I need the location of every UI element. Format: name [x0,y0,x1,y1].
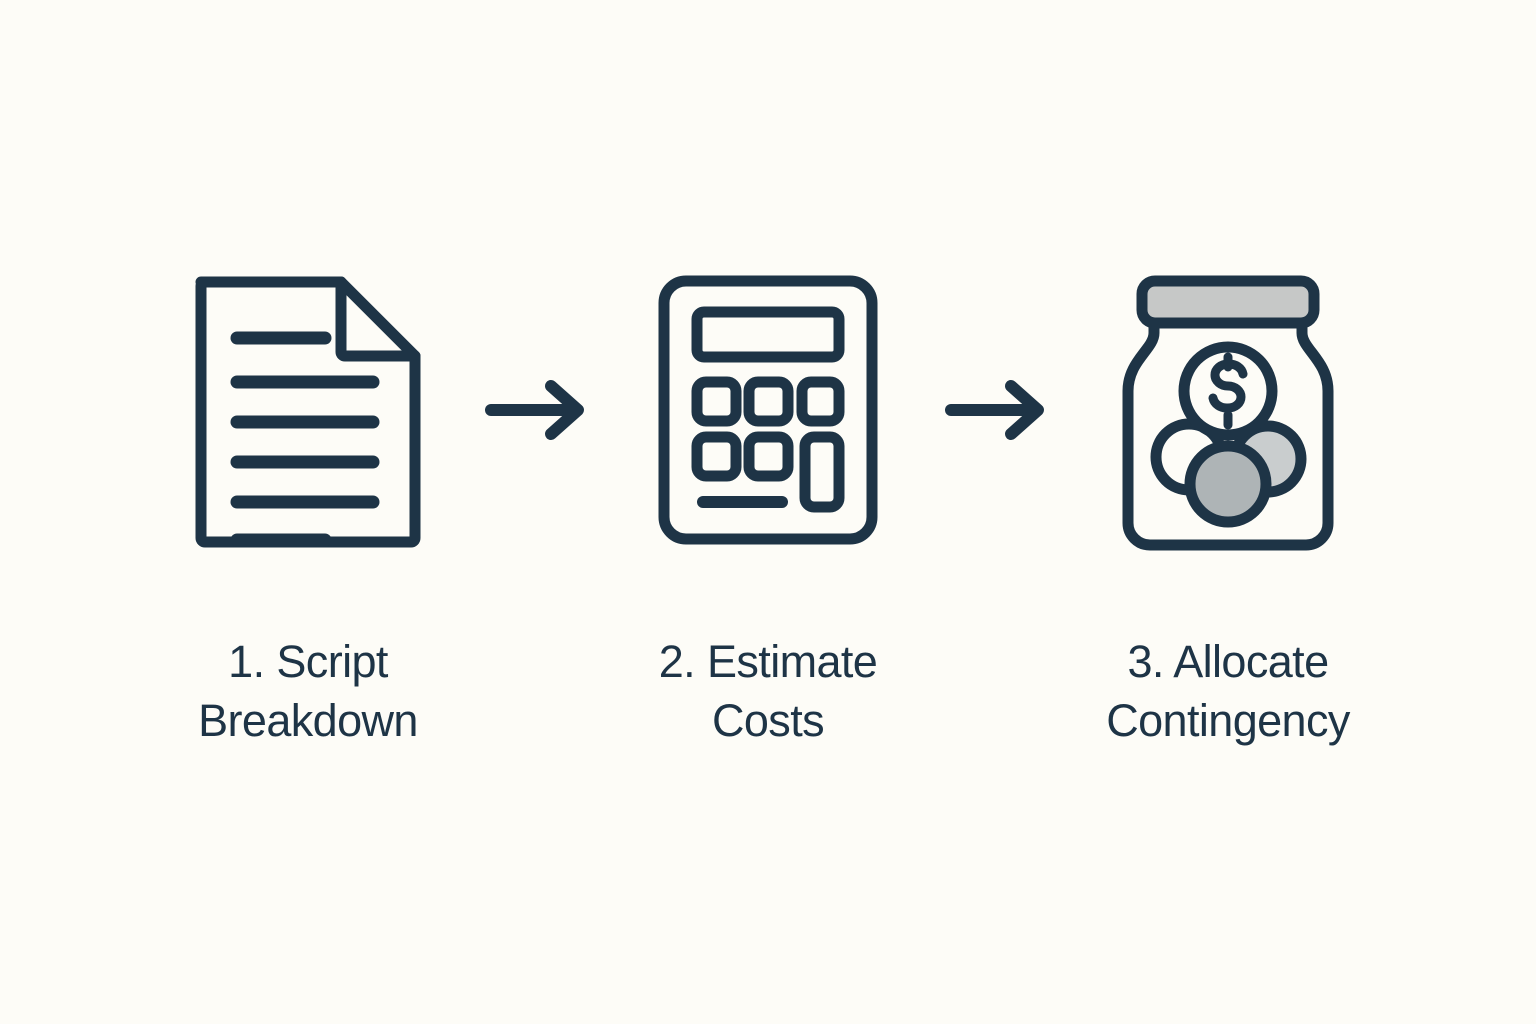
money-jar-icon-slot [1116,240,1340,580]
arrow-2-to-3-icon [943,375,1053,445]
calculator-icon [657,274,879,546]
coin-dark-gray [1190,446,1266,522]
document-icon-slot [193,240,423,580]
step-allocate-contingency: 3. Allocate Contingency [1063,0,1393,751]
calculator-display [697,312,839,357]
process-flow: 1. Script Breakdown [0,0,1536,1024]
process-diagram: 1. Script Breakdown [0,0,1536,1024]
document-icon [193,270,423,550]
step-label-3: 3. Allocate Contingency [1078,632,1378,751]
calculator-equals-key [805,437,839,507]
step-label-1: 1. Script Breakdown [158,632,458,751]
step-label-2: 2. Estimate Costs [658,632,878,751]
connector-arrow-1-slot [473,240,603,580]
document-text-lines [237,338,373,540]
step-estimate-costs: 2. Estimate Costs [603,0,933,751]
jar-lid [1142,281,1314,323]
calculator-icon-slot [657,240,879,580]
money-jar-icon [1116,273,1340,547]
connector-arrow-2-slot [933,240,1063,580]
step-script-breakdown: 1. Script Breakdown [143,0,473,751]
arrow-1-to-2-icon [483,375,593,445]
